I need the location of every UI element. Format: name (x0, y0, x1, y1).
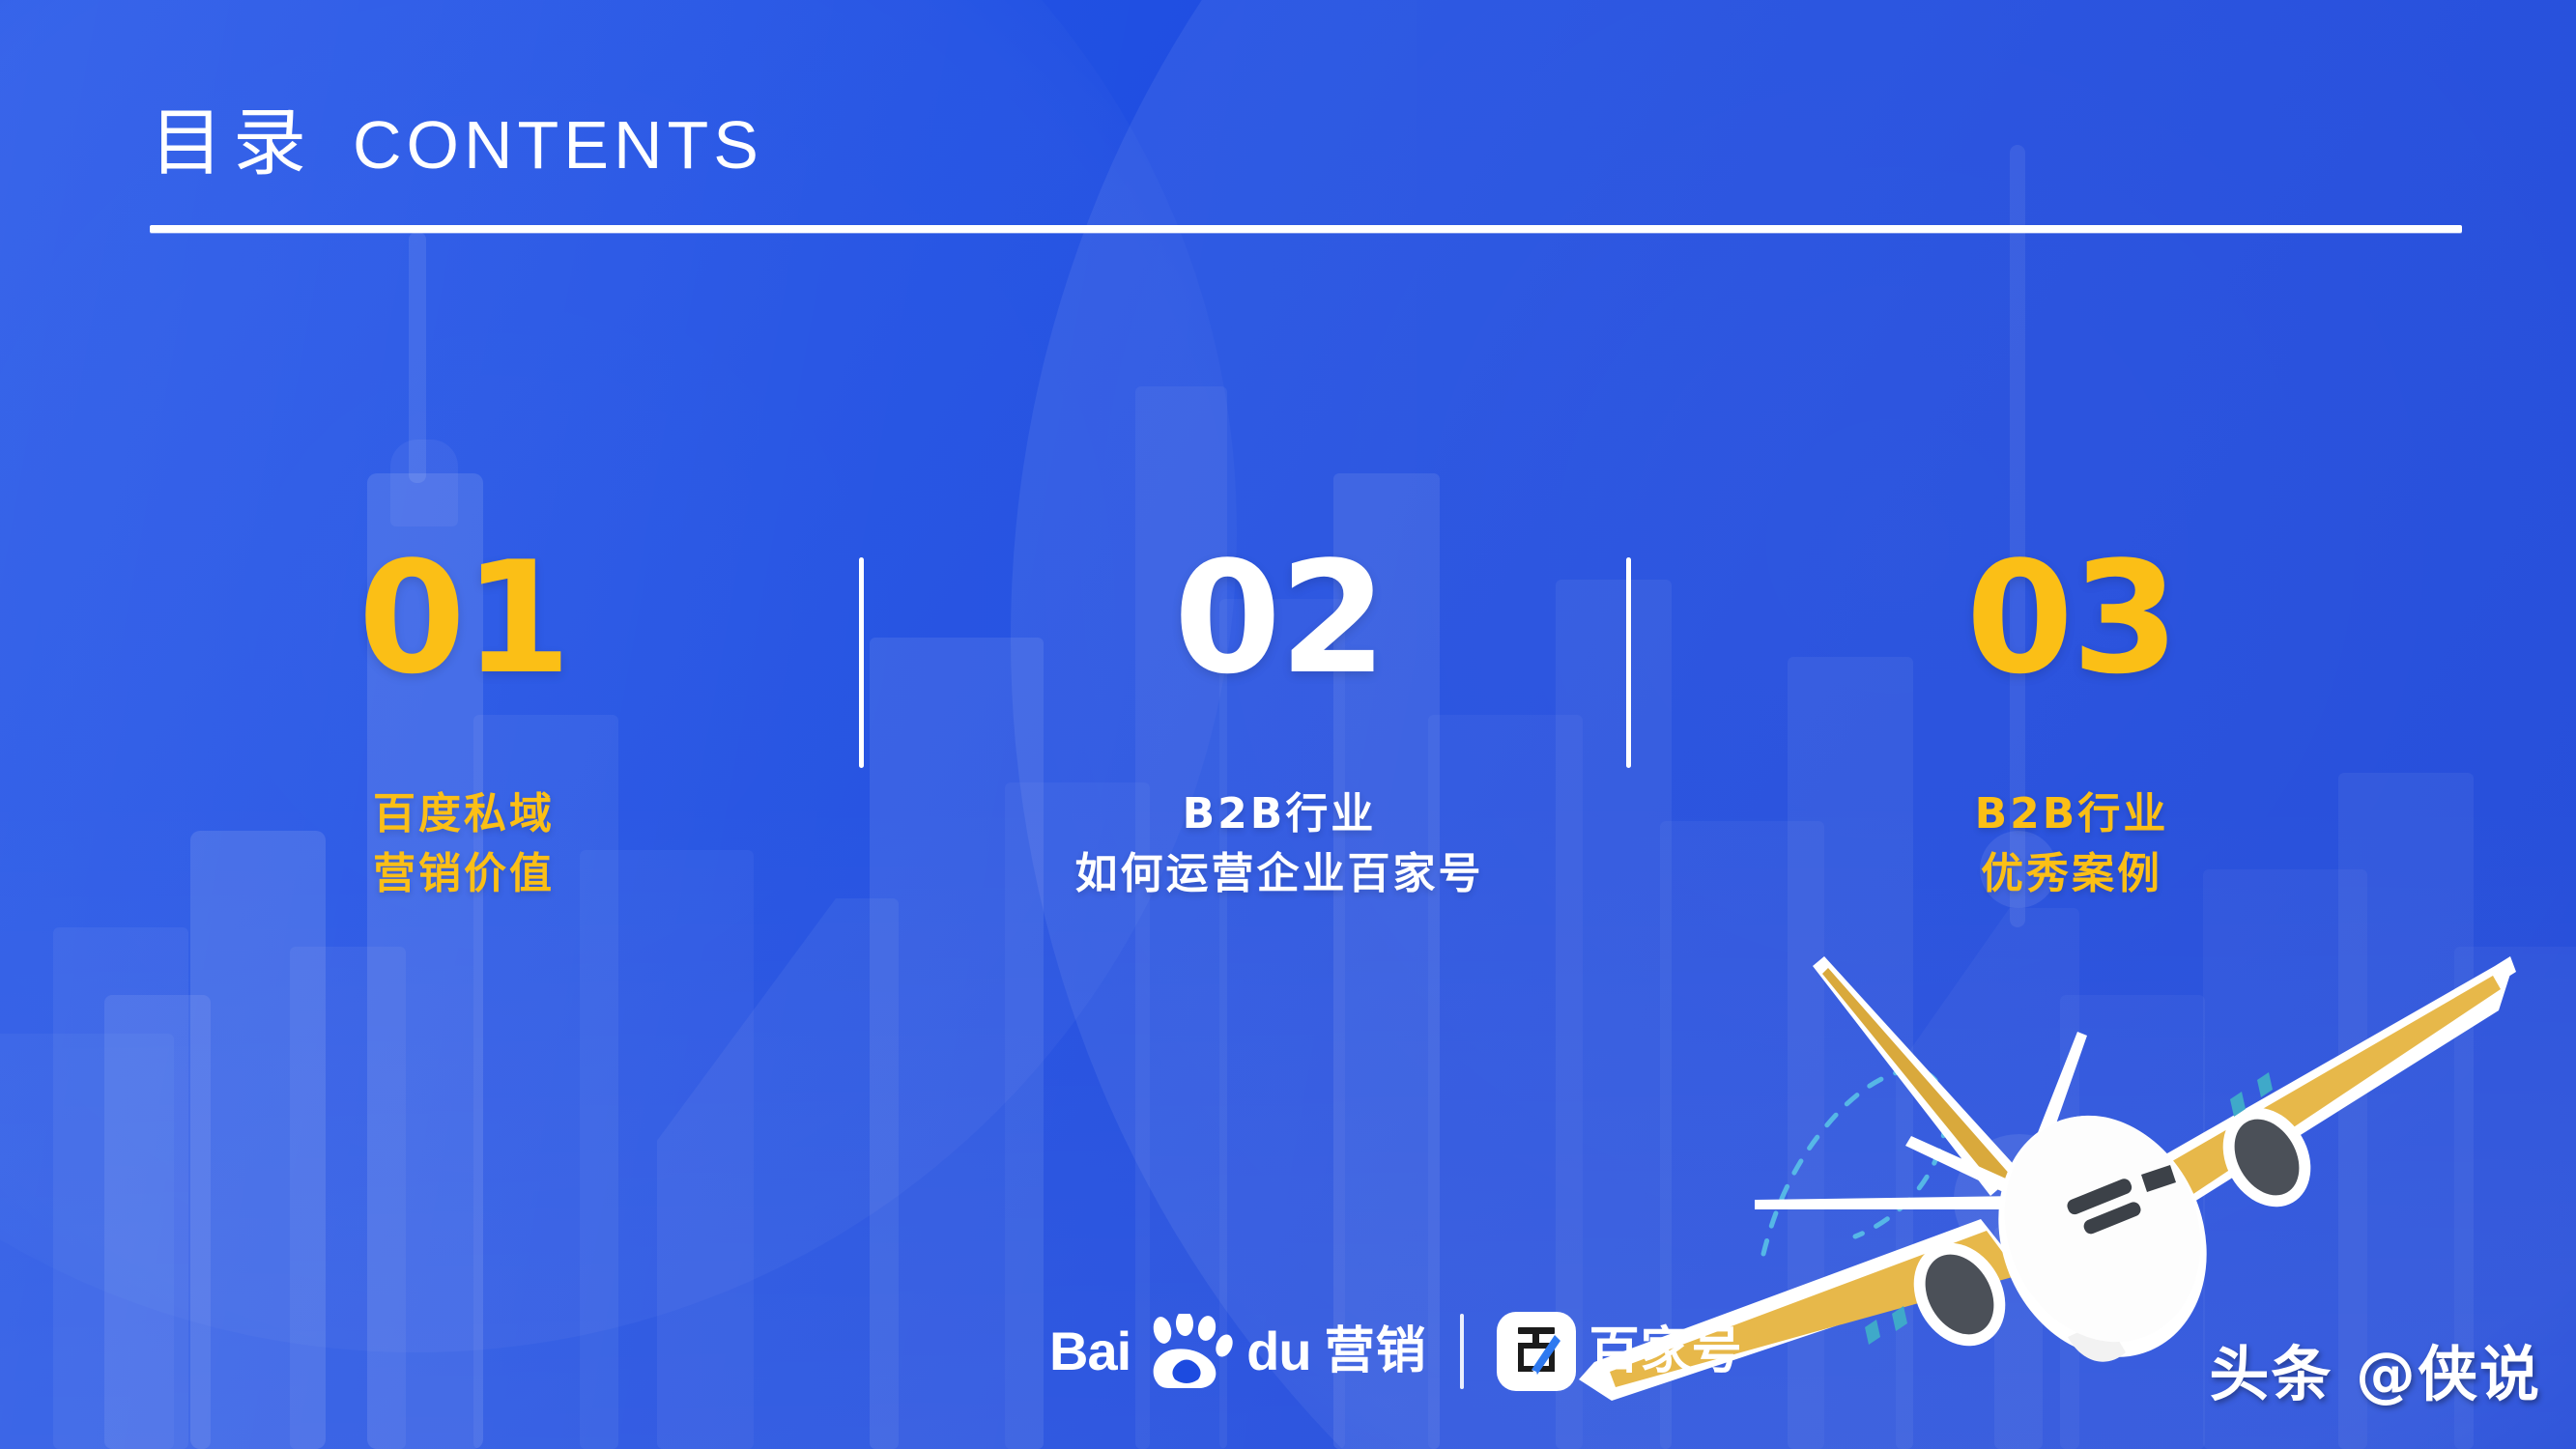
baidu-wordmark-du: du (1246, 1324, 1310, 1378)
section-number-03: 03 (1733, 541, 2410, 696)
header-underline (150, 225, 2462, 233)
section-label-01-line1: 百度私域 (106, 784, 821, 844)
baijiahao-logo[interactable]: 百家号 (1497, 1312, 1743, 1391)
page-title-en: CONTENTS (353, 106, 763, 184)
baidu-paw-icon (1144, 1314, 1233, 1389)
section-label-03-line2: 优秀案例 (1733, 844, 2410, 904)
section-number-01: 01 (106, 541, 821, 696)
section-label-01: 百度私域 营销价值 (106, 784, 821, 905)
section-label-02-line1: B2B行业 (922, 784, 1637, 844)
section-label-01-line2: 营销价值 (106, 844, 821, 904)
contents-columns: 01 百度私域 营销价值 02 B2B行业 如何运营企业百家号 03 B2B行业… (0, 541, 2576, 995)
contents-item-03[interactable]: 03 B2B行业 优秀案例 (1733, 541, 2410, 905)
baijiahao-glyph-icon (1506, 1321, 1566, 1381)
presentation-slide: 目录 CONTENTS 01 百度私域 营销价值 02 B2B行业 如何运营企业… (0, 0, 2576, 1449)
footer-divider (1460, 1314, 1464, 1389)
baijiahao-label: 百家号 (1589, 1326, 1743, 1377)
section-label-03: B2B行业 优秀案例 (1733, 784, 2410, 905)
baidu-marketing-label: 营销 (1325, 1326, 1427, 1377)
watermark: 头条 @侠说 (2209, 1325, 2541, 1412)
section-label-03-line1: B2B行业 (1733, 784, 2410, 844)
baidu-marketing-logo[interactable]: Bai du 营销 (1049, 1314, 1427, 1389)
baidu-wordmark-bai: Bai (1049, 1324, 1131, 1378)
contents-item-01[interactable]: 01 百度私域 营销价值 (106, 541, 821, 905)
section-number-02: 02 (922, 541, 1637, 696)
contents-item-02[interactable]: 02 B2B行业 如何运营企业百家号 (922, 541, 1637, 905)
section-label-02: B2B行业 如何运营企业百家号 (922, 784, 1637, 905)
page-title-cn: 目录 (150, 83, 316, 189)
footer-logos: Bai du 营销 (1049, 1312, 1743, 1391)
page-title: 目录 CONTENTS (150, 83, 763, 189)
baijiahao-badge-icon (1497, 1312, 1576, 1391)
column-divider-1 (859, 557, 864, 768)
section-label-02-line2: 如何运营企业百家号 (922, 844, 1637, 904)
column-divider-2 (1626, 557, 1631, 768)
